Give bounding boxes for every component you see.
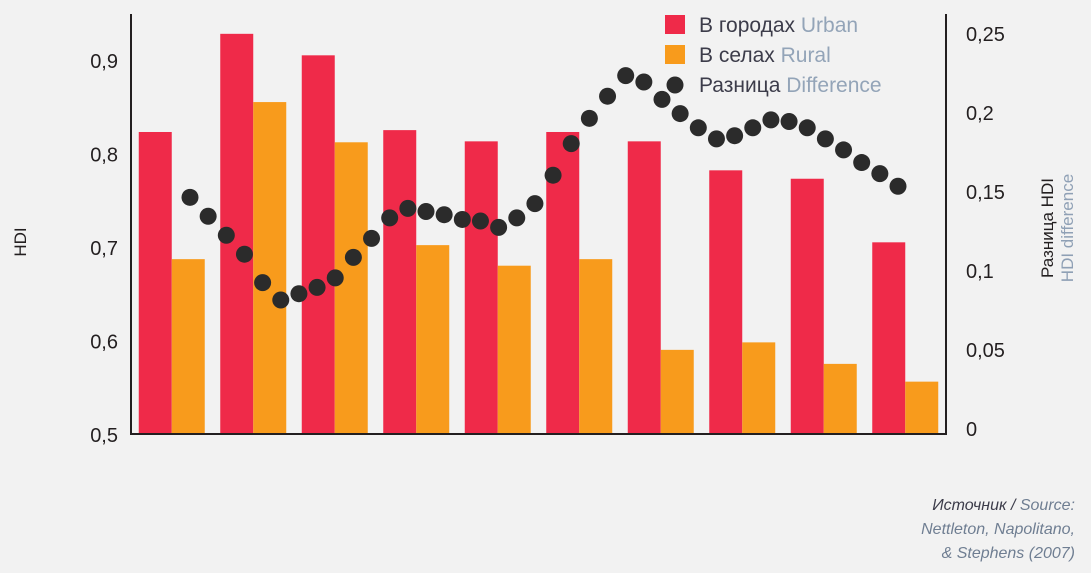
bar-rural-4	[498, 266, 531, 434]
difference-dot-18	[508, 209, 525, 226]
left-tick-0: 0,5	[90, 425, 118, 447]
left-tick-3: 0,8	[90, 145, 118, 167]
difference-dot-33	[781, 113, 798, 130]
bar-urban-7	[709, 170, 742, 434]
right-tick-5: 0,25	[966, 24, 1005, 46]
bar-rural-3	[416, 245, 449, 434]
difference-dot-9	[345, 249, 362, 266]
difference-dot-17	[490, 219, 507, 236]
chart-container: 0,50,60,70,80,9 00,050,10,150,20,25 В го…	[0, 0, 1091, 573]
hdi-urban-rural-chart: 0,50,60,70,80,9 00,050,10,150,20,25 В го…	[0, 0, 1091, 573]
difference-dot-1	[200, 208, 217, 225]
difference-dot-8	[327, 269, 344, 286]
difference-dot-3	[236, 246, 253, 263]
difference-dot-23	[599, 88, 616, 105]
bar-urban-6	[628, 141, 661, 434]
legend-label-rural: В селах Rural	[699, 44, 831, 67]
difference-dot-30	[726, 127, 743, 144]
left-axis-title: HDI	[11, 227, 30, 256]
bar-rural-2	[335, 142, 368, 434]
right-axis-title-ru: Разница HDI	[1038, 178, 1057, 278]
difference-dot-2	[218, 227, 235, 244]
legend-label-difference: Разница Difference	[699, 74, 882, 97]
bar-rural-7	[742, 342, 775, 434]
difference-dot-38	[871, 165, 888, 182]
difference-dot-31	[744, 119, 761, 136]
bar-urban-9	[872, 242, 905, 434]
source-note: Источник / Source:Nettleton, Napolitano,…	[921, 497, 1075, 562]
bar-rural-6	[661, 350, 694, 434]
bar-rural-8	[824, 364, 857, 434]
legend-label-urban: В городах Urban	[699, 14, 858, 37]
difference-dot-29	[708, 130, 725, 147]
difference-dot-28	[690, 119, 707, 136]
difference-dot-27	[672, 105, 689, 122]
legend-dot-icon-difference	[667, 77, 684, 94]
bar-rural-0	[172, 259, 205, 434]
bar-urban-4	[465, 141, 498, 434]
difference-dot-26	[654, 91, 671, 108]
difference-dot-36	[835, 141, 852, 158]
difference-dot-7	[309, 279, 326, 296]
difference-dot-13	[418, 203, 435, 220]
difference-dot-22	[581, 110, 598, 127]
bar-urban-3	[383, 130, 416, 434]
right-axis-title-en: HDI difference	[1058, 174, 1077, 282]
difference-dot-19	[526, 195, 543, 212]
difference-dot-5	[272, 292, 289, 309]
difference-dot-4	[254, 274, 271, 291]
legend-swatch-icon-rural	[665, 45, 685, 64]
difference-dot-14	[436, 206, 453, 223]
bar-urban-8	[791, 179, 824, 434]
bar-rural-1	[253, 102, 286, 434]
right-tick-4: 0,2	[966, 103, 994, 125]
difference-dot-12	[399, 200, 416, 217]
bar-urban-0	[139, 132, 172, 434]
bar-rural-9	[905, 382, 938, 434]
left-tick-4: 0,9	[90, 51, 118, 73]
difference-dot-24	[617, 67, 634, 84]
difference-dot-16	[472, 213, 489, 230]
difference-dot-32	[762, 111, 779, 128]
difference-dot-10	[363, 230, 380, 247]
right-tick-2: 0,1	[966, 261, 994, 283]
difference-dot-6	[290, 285, 307, 302]
right-tick-3: 0,15	[966, 182, 1005, 204]
source-line-3: & Stephens (2007)	[942, 545, 1075, 562]
difference-dot-39	[890, 178, 907, 195]
difference-dot-25	[635, 73, 652, 90]
difference-dot-21	[563, 135, 580, 152]
difference-dot-37	[853, 154, 870, 171]
difference-dot-15	[454, 211, 471, 228]
difference-dot-20	[545, 167, 562, 184]
bar-urban-2	[302, 55, 335, 434]
legend-swatch-icon-urban	[665, 15, 685, 34]
source-line-1: Источник / Source:	[932, 497, 1075, 514]
difference-dot-35	[817, 130, 834, 147]
bar-rural-5	[579, 259, 612, 434]
difference-dot-0	[182, 189, 199, 206]
difference-dot-34	[799, 119, 816, 136]
difference-dot-11	[381, 209, 398, 226]
right-tick-0: 0	[966, 419, 977, 441]
left-tick-2: 0,7	[90, 238, 118, 260]
source-line-2: Nettleton, Napolitano,	[921, 521, 1075, 538]
left-tick-1: 0,6	[90, 332, 118, 354]
right-tick-1: 0,05	[966, 340, 1005, 362]
